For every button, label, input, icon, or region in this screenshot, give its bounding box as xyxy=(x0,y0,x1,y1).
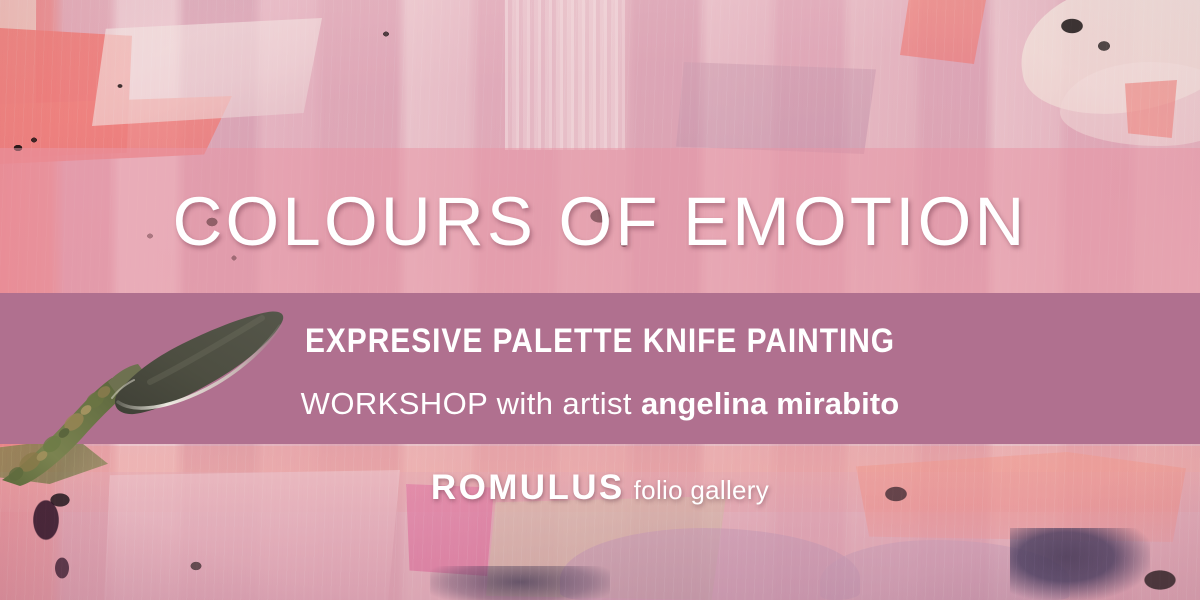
subtitle: EXPRESIVE PALETTE KNIFE PAINTING xyxy=(72,322,1128,361)
workshop-artist-line: WORKSHOP with artist angelina mirabito xyxy=(0,386,1200,422)
event-poster: COLOURS OF EMOTION EXPRESIVE PALETTE KNI… xyxy=(0,0,1200,600)
artist-name: angelina mirabito xyxy=(641,386,899,421)
logo-tagline: folio gallery xyxy=(634,475,769,505)
page-title: COLOURS OF EMOTION xyxy=(0,148,1200,294)
logo-wordmark: ROMULUS xyxy=(431,468,625,507)
gallery-logo: ROMULUSfolio gallery xyxy=(0,468,1200,508)
workshop-lead: WORKSHOP with artist xyxy=(301,386,632,421)
